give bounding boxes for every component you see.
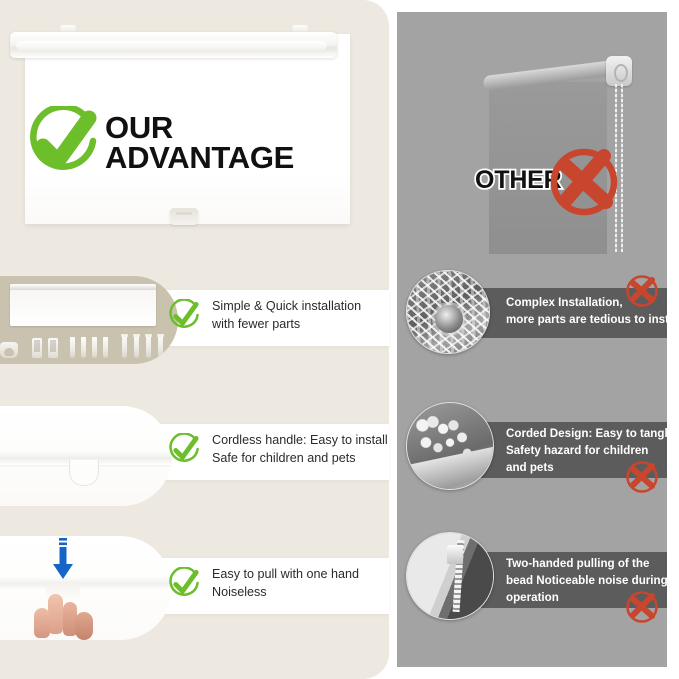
red-cross-badge-icon — [625, 458, 661, 494]
blind-rail-chain-texture — [407, 533, 493, 619]
part-bracket — [0, 342, 18, 358]
advantage-row-3-media — [0, 536, 172, 640]
advantage-panel: OUR ADVANTAGE — [0, 0, 389, 679]
part-long-screw-3 — [146, 334, 151, 358]
palm — [75, 612, 93, 640]
hero-headrail — [10, 32, 337, 58]
other-row-3-line3: operation — [506, 591, 559, 604]
hero-bottom-handle — [170, 208, 198, 225]
green-check-icon — [168, 567, 201, 600]
advantage-row-2-media — [0, 406, 172, 506]
part-long-screw-2 — [134, 334, 139, 358]
part-end-cap-1 — [32, 338, 42, 358]
other-row-1-line2: more parts are tedious to install — [506, 313, 679, 326]
other-row-1: Complex Installation, more parts are ted… — [397, 270, 667, 356]
mini-roller-blind — [10, 284, 156, 326]
advantage-row-2-line1: Cordless handle: Easy to install — [212, 433, 388, 447]
advantage-row-1-text: Simple & Quick installation with fewer p… — [212, 298, 361, 334]
part-screw-2 — [81, 337, 86, 358]
comparison-infographic: OUR ADVANTAGE — [0, 0, 679, 679]
advantage-heading-lockup: OUR ADVANTAGE — [27, 106, 294, 180]
advantage-row-2-line2: Safe for children and pets — [212, 451, 356, 465]
other-row-3: Two-handed pulling of the bead Noticeabl… — [397, 530, 667, 626]
other-row-2: Corded Design: Easy to tangle Safety haz… — [397, 400, 667, 496]
advantage-row-3-line1: Easy to pull with one hand — [212, 567, 359, 581]
part-long-screw-1 — [122, 334, 127, 358]
advantage-row-3-line2: Noiseless — [212, 585, 267, 599]
red-cross-circle-icon — [546, 140, 626, 220]
advantage-heading-line2: ADVANTAGE — [105, 143, 294, 173]
part-screw-1 — [70, 337, 75, 358]
other-row-3-line1: Two-handed pulling of the — [506, 557, 649, 570]
green-check-circle-icon — [27, 106, 101, 180]
advantage-row-1-line1: Simple & Quick installation — [212, 299, 361, 313]
blind-bottom-bar — [0, 576, 172, 590]
finger-index — [48, 594, 63, 634]
other-row-2-line3: and pets — [506, 461, 554, 474]
advantage-row-2-text: Cordless handle: Easy to install Safe fo… — [212, 432, 388, 468]
part-long-screw-4 — [158, 334, 163, 358]
green-check-icon — [168, 433, 201, 466]
tangled-parts-texture — [407, 271, 489, 353]
hand-pulling-illustration — [34, 594, 100, 640]
mounting-parts-group — [0, 332, 168, 358]
part-screw-3 — [92, 337, 97, 358]
advantage-heading-text: OUR ADVANTAGE — [105, 113, 294, 174]
other-row-3-line2: bead Noticeable noise during — [506, 574, 668, 587]
other-row-3-photo — [406, 532, 494, 620]
other-row-1-line1: Complex Installation, — [506, 296, 623, 309]
advantage-row-3: Easy to pull with one hand Noiseless — [0, 536, 389, 646]
red-cross-badge-icon — [625, 272, 661, 308]
advantage-row-1-copy: Simple & Quick installation with fewer p… — [168, 298, 361, 334]
bead-chain-texture — [407, 403, 493, 489]
advantage-row-3-text: Easy to pull with one hand Noiseless — [212, 566, 359, 602]
advantage-row-3-copy: Easy to pull with one hand Noiseless — [168, 566, 359, 602]
blue-down-arrow-icon — [47, 538, 79, 580]
red-cross-badge-icon — [625, 588, 661, 624]
advantage-row-1-line2: with fewer parts — [212, 317, 300, 331]
other-panel: OTHER Complex Installation, more parts a… — [397, 12, 667, 667]
advantage-row-2: Cordless handle: Easy to install Safe fo… — [0, 406, 389, 508]
cordless-handle-knob — [69, 460, 99, 486]
other-row-2-line1: Corded Design: Easy to tangle — [506, 427, 674, 440]
other-row-2-line2: Safety hazard for children — [506, 444, 648, 457]
other-heading-lockup: OTHER — [475, 140, 626, 220]
green-check-icon — [168, 299, 201, 332]
advantage-row-2-copy: Cordless handle: Easy to install Safe fo… — [168, 432, 388, 468]
part-end-cap-2 — [48, 338, 58, 358]
other-chain-mechanism — [606, 56, 632, 86]
part-screw-4 — [103, 337, 108, 358]
advantage-row-1-media — [0, 276, 178, 364]
other-row-1-photo — [406, 270, 490, 354]
other-row-2-photo — [406, 402, 494, 490]
thumb — [34, 608, 50, 638]
advantage-row-1: Simple & Quick installation with fewer p… — [0, 276, 389, 368]
